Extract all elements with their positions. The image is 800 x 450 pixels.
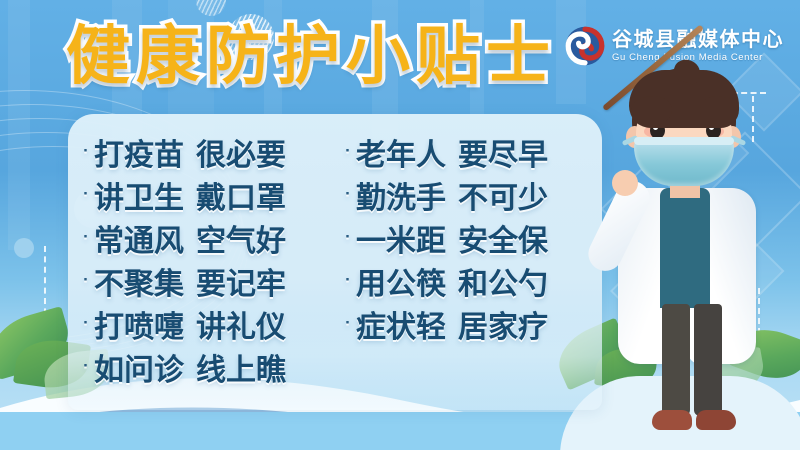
bullet-icon: · — [78, 228, 94, 245]
tip-part1: 勤洗手 — [356, 173, 446, 217]
tips-columns: · 打疫苗 很必要 · 讲卫生 戴口罩 · 常通风 空气好 · 不聚集 — [68, 114, 602, 410]
tip-part2: 线上瞧 — [196, 345, 286, 389]
tip-item: · 用公筷 和公勺 — [340, 259, 602, 302]
leaf — [0, 306, 76, 380]
bullet-icon: · — [340, 185, 356, 202]
doctor-illustration — [596, 66, 800, 450]
tip-item: · 不聚集 要记牢 — [78, 259, 340, 302]
tip-part2: 很必要 — [196, 130, 286, 174]
tip-item: · 如问诊 线上瞧 — [78, 345, 340, 388]
tip-part1: 讲卫生 — [94, 173, 184, 217]
tip-part2: 空气好 — [196, 216, 286, 260]
tip-item: · 一米距 安全保 — [340, 216, 602, 259]
tip-part2: 戴口罩 — [196, 173, 286, 217]
logo-name-en: Gu Cheng Fusion Media Center — [612, 53, 784, 63]
tip-item: · 勤洗手 不可少 — [340, 173, 602, 216]
tip-part2: 和公勺 — [458, 259, 548, 303]
tips-column-left: · 打疫苗 很必要 · 讲卫生 戴口罩 · 常通风 空气好 · 不聚集 — [68, 130, 340, 410]
tip-part1: 用公筷 — [356, 259, 446, 303]
tip-part1: 老年人 — [356, 130, 446, 174]
bullet-icon: · — [78, 314, 94, 331]
health-poster: 健康防护小贴士 谷城县融媒体中心 Gu Cheng Fusion Media C… — [0, 0, 800, 450]
bullet-icon: · — [340, 142, 356, 159]
tip-part2: 讲礼仪 — [196, 302, 286, 346]
shirt — [660, 188, 710, 308]
tip-part1: 不聚集 — [94, 259, 184, 303]
face-mask-icon — [634, 138, 734, 186]
tip-part1: 如问诊 — [94, 345, 184, 389]
shoe-left — [652, 410, 692, 430]
tip-part1: 常通风 — [94, 216, 184, 260]
bullet-icon: · — [78, 271, 94, 288]
trouser-left — [662, 304, 690, 416]
page-title: 健康防护小贴士 — [66, 18, 556, 94]
tip-part2: 要尽早 — [458, 130, 548, 174]
bullet-icon: · — [340, 314, 356, 331]
bullet-icon: · — [340, 271, 356, 288]
tip-part2: 要记牢 — [196, 259, 286, 303]
bullet-icon: · — [78, 185, 94, 202]
shoe-right — [696, 410, 736, 430]
tip-item: · 打疫苗 很必要 — [78, 130, 340, 173]
tip-part2: 安全保 — [458, 216, 548, 260]
logo-text: 谷城县融媒体中心 Gu Cheng Fusion Media Center — [612, 30, 784, 63]
tip-part1: 症状轻 — [356, 302, 446, 346]
face-mask-top-edge — [634, 137, 734, 145]
tip-item: · 打喷嚏 讲礼仪 — [78, 302, 340, 345]
tip-part2: 居家疗 — [458, 302, 548, 346]
tip-part2: 不可少 — [458, 173, 548, 217]
bullet-icon: · — [78, 142, 94, 159]
tip-item: · 常通风 空气好 — [78, 216, 340, 259]
bullet-icon: · — [340, 228, 356, 245]
tips-panel: · 打疫苗 很必要 · 讲卫生 戴口罩 · 常通风 空气好 · 不聚集 — [68, 114, 602, 410]
tip-part1: 打疫苗 — [94, 130, 184, 174]
bullet-icon: · — [78, 357, 94, 374]
tip-item: · 症状轻 居家疗 — [340, 302, 602, 345]
tip-item: · 讲卫生 戴口罩 — [78, 173, 340, 216]
swirl-emblem-icon — [565, 26, 605, 66]
bg-dashed-line — [44, 246, 46, 356]
bg-circle — [14, 238, 34, 258]
tips-column-right: · 老年人 要尽早 · 勤洗手 不可少 · 一米距 安全保 · 用公筷 — [340, 130, 602, 410]
tip-part1: 一米距 — [356, 216, 446, 260]
tip-item: · 老年人 要尽早 — [340, 130, 602, 173]
trouser-right — [694, 304, 722, 416]
tip-part1: 打喷嚏 — [94, 302, 184, 346]
hand — [612, 170, 638, 196]
